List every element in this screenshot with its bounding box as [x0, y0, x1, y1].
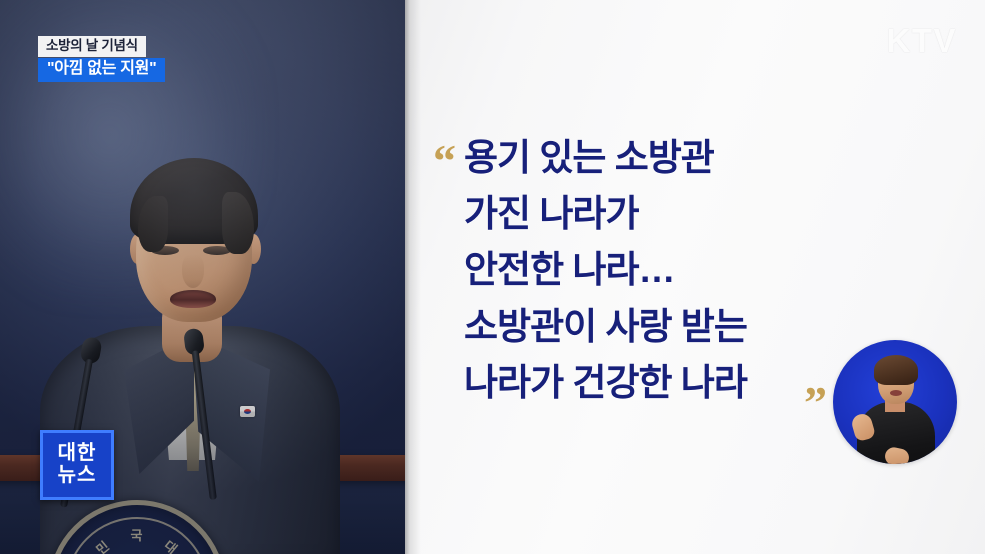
title-banner: 소방의 날 기념식 "아낌 없는 지원" [38, 36, 165, 82]
presidential-emblem: 대한민국대통령 ▼▼ [48, 500, 226, 554]
quote-line: 소방관이 사랑 받는 [433, 299, 873, 355]
emblem-char: 민 [91, 535, 113, 554]
network-logo-line-2: 뉴스 [58, 465, 97, 487]
broadcast-frame: 대한민국대통령 ▼▼ 소방의 날 기념식 "아낌 없는 지원" 대한 뉴스 KT… [0, 0, 985, 554]
quote-text-lines: 용기 있는 소방관가진 나라가안전한 나라…소방관이 사랑 받는나라가 건강한 … [433, 130, 873, 411]
korean-flag-lapel-pin [240, 406, 255, 417]
emblem-char: 대 [161, 535, 183, 554]
speaker-nose [182, 254, 204, 288]
emblem-text-ring: 대한민국대통령 [53, 505, 221, 554]
quote-block: “ 용기 있는 소방관가진 나라가안전한 나라…소방관이 사랑 받는나라가 건강… [433, 130, 873, 411]
speaker-photo-panel: 대한민국대통령 ▼▼ 소방의 날 기념식 "아낌 없는 지원" 대한 뉴스 [0, 0, 405, 554]
network-logo-line-1: 대한 [58, 443, 97, 465]
ktv-channel-logo: KTV [887, 22, 958, 60]
quote-line: 안전한 나라… [433, 242, 873, 298]
quote-close-mark: ” [804, 380, 827, 426]
banner-headline: 소방의 날 기념식 [38, 36, 146, 57]
emblem-char: 국 [131, 525, 144, 544]
panel-divider [405, 0, 421, 554]
quote-line: 용기 있는 소방관 [433, 130, 873, 186]
sign-language-interpreter-inset [833, 340, 957, 464]
banner-subheadline: "아낌 없는 지원" [38, 58, 165, 82]
speaker-hair [130, 158, 258, 244]
quote-panel: KTV “ 용기 있는 소방관가진 나라가안전한 나라…소방관이 사랑 받는나라… [405, 0, 985, 554]
quote-line: 가진 나라가 [433, 186, 873, 242]
interpreter-mouth [890, 390, 902, 396]
network-logo-daehan-news: 대한 뉴스 [40, 430, 114, 500]
interpreter-hair [874, 355, 918, 385]
speaker-mouth [170, 290, 216, 308]
